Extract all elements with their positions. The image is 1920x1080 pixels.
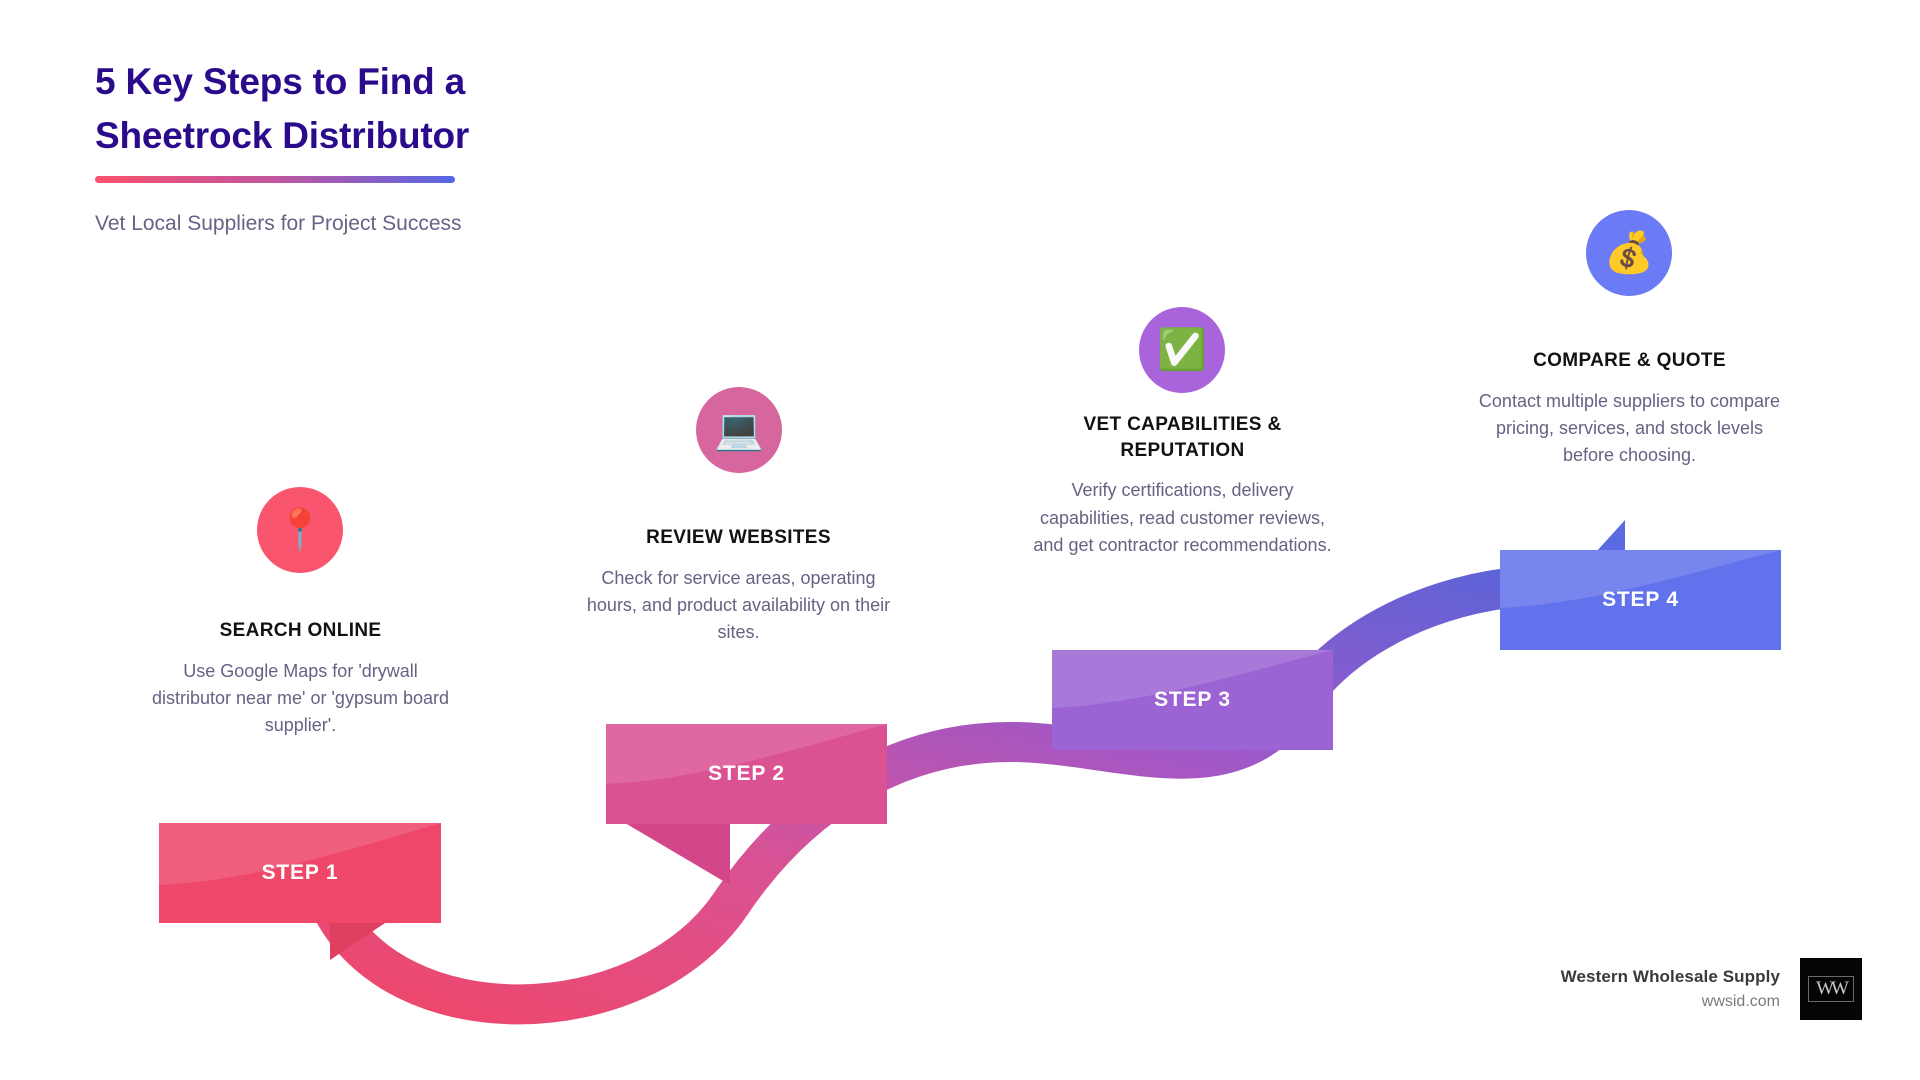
step-2-banner-label: STEP 2 [606, 762, 887, 786]
laptop-icon: 💻 [714, 410, 764, 450]
infographic-canvas: 5 Key Steps to Find a Sheetrock Distribu… [0, 0, 1920, 1080]
check-mark-button-icon: ✅ [1157, 330, 1207, 370]
step-4-icon-circle: 💰 [1586, 210, 1672, 296]
title-accent-rule [95, 176, 455, 183]
step-3-banner[interactable]: STEP 3 [1052, 650, 1333, 750]
money-bag-icon: 💰 [1604, 233, 1654, 273]
brand-name: Western Wholesale Supply [1561, 967, 1780, 987]
step-1-banner-label: STEP 1 [159, 861, 441, 885]
step-3-icon-circle: ✅ [1139, 307, 1225, 393]
logo-monogram: WW [1808, 976, 1854, 1002]
step-3-banner-label: STEP 3 [1052, 688, 1333, 712]
page-title-line-2: Sheetrock Distributor [95, 109, 715, 163]
step-2-text: REVIEW WEBSITES Check for service areas,… [586, 525, 891, 647]
step-3-description: Verify certifications, delivery capabili… [1030, 477, 1335, 559]
step-1-banner[interactable]: STEP 1 [159, 823, 441, 923]
step-4-heading: COMPARE & QUOTE [1477, 348, 1782, 374]
brand-logo: WW [1800, 958, 1862, 1020]
step-1-heading: SEARCH ONLINE [148, 618, 453, 644]
step-1-text: SEARCH ONLINE Use Google Maps for 'drywa… [148, 618, 453, 740]
step-3-text: VET CAPABILITIES & REPUTATION Verify cer… [1030, 412, 1335, 559]
step-4-banner[interactable]: STEP 4 [1500, 550, 1781, 650]
step-1-description: Use Google Maps for 'drywall distributor… [148, 658, 453, 740]
step-3-heading: VET CAPABILITIES & REPUTATION [1030, 412, 1335, 463]
step-2-banner[interactable]: STEP 2 [606, 724, 887, 824]
step-2-icon-circle: 💻 [696, 387, 782, 473]
page-subtitle: Vet Local Suppliers for Project Success [95, 209, 715, 238]
footer-text: Western Wholesale Supply wwsid.com [1561, 967, 1780, 1011]
header: 5 Key Steps to Find a Sheetrock Distribu… [95, 55, 715, 239]
step-4-text: COMPARE & QUOTE Contact multiple supplie… [1477, 348, 1782, 470]
footer: Western Wholesale Supply wwsid.com WW [1561, 958, 1862, 1020]
round-pushpin-icon: 📍 [275, 510, 325, 550]
page-title-line-1: 5 Key Steps to Find a [95, 55, 715, 109]
page-title: 5 Key Steps to Find a Sheetrock Distribu… [95, 55, 715, 162]
step-1-icon-circle: 📍 [257, 487, 343, 573]
step-4-description: Contact multiple suppliers to compare pr… [1477, 388, 1782, 470]
step-2-heading: REVIEW WEBSITES [586, 525, 891, 551]
step-4-banner-label: STEP 4 [1500, 588, 1781, 612]
step-2-description: Check for service areas, operating hours… [586, 565, 891, 647]
brand-website[interactable]: wwsid.com [1561, 993, 1780, 1011]
